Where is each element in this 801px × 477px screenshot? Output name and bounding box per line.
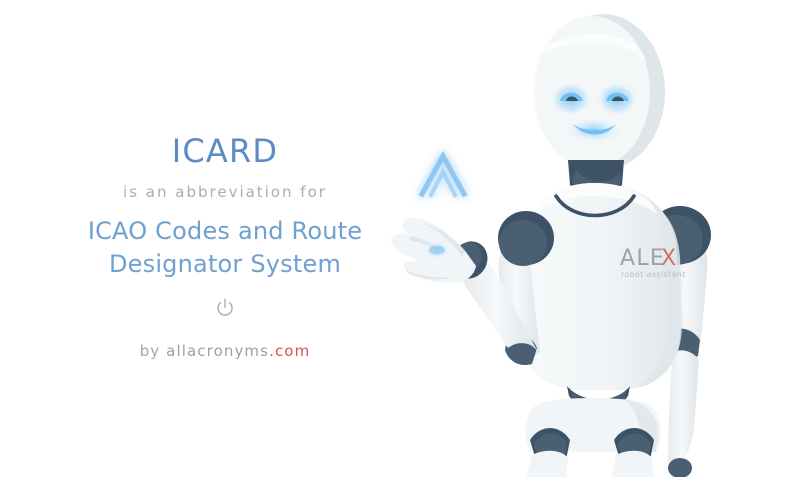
robot-mouth [561, 115, 627, 145]
acronym-definition-card: ICARD is an abbreviation for ICAO Codes … [0, 0, 801, 477]
robot-eye-left [549, 81, 593, 117]
robot-head [534, 14, 665, 170]
robot-eye-right [595, 81, 639, 117]
byline-site-name: allacronyms [166, 342, 269, 360]
acronym-expansion: ICAO Codes and Route Designator System [35, 215, 415, 281]
byline-by-label: by [140, 342, 161, 360]
expansion-line-1: ICAO Codes and Route [35, 215, 415, 248]
byline-site-tld: .com [269, 342, 310, 360]
robot-assistant-illustration: ALE X robot assistant [380, 0, 801, 477]
robot-torso [519, 183, 682, 390]
robot-open-palm [391, 218, 476, 283]
robot-chest-brand: ALE X robot assistant [620, 246, 686, 279]
chest-brand-text: ALE [620, 246, 665, 271]
expansion-line-2: Designator System [35, 248, 415, 281]
robot-left-arm [391, 211, 554, 365]
robot-lower-body [525, 386, 660, 477]
chest-subtitle-text: robot assistant [621, 270, 686, 279]
chest-brand-accent: X [661, 246, 677, 271]
